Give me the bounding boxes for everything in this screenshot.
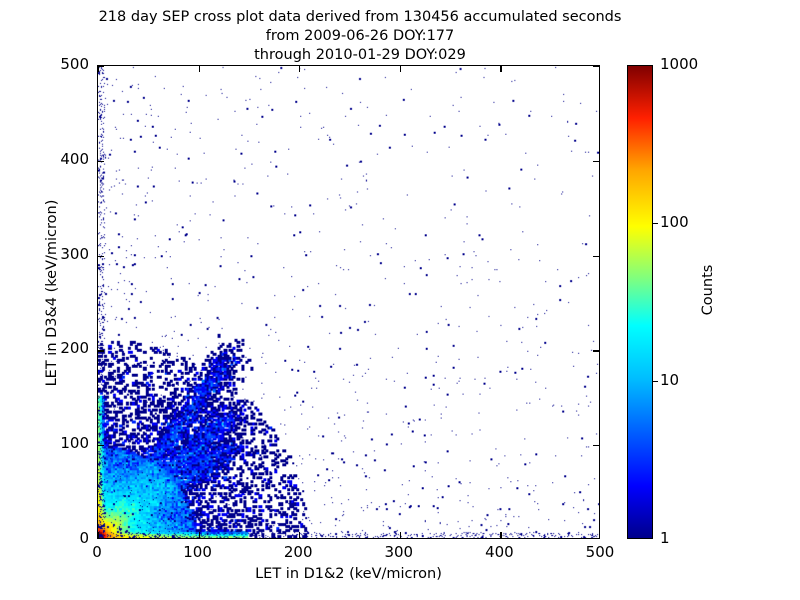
y-tick-300 — [98, 256, 104, 257]
y-tick-200 — [593, 350, 599, 351]
y-tick-200 — [98, 350, 104, 351]
x-tick-label-500: 500 — [560, 543, 640, 561]
y-tick-300 — [593, 256, 599, 257]
colorbar-label-1: 1 — [660, 529, 670, 547]
y-tick-label-0: 0 — [33, 529, 89, 547]
x-tick-200 — [299, 532, 300, 538]
chart-title-line-2: from 2009-06-26 DOY:177 — [0, 27, 720, 46]
x-tick-300 — [400, 66, 401, 72]
y-tick-100 — [593, 445, 599, 446]
x-tick-300 — [400, 532, 401, 538]
y-tick-label-500: 500 — [33, 55, 89, 73]
x-tick-label-200: 200 — [258, 543, 338, 561]
x-axis-label: LET in D1&2 (keV/micron) — [97, 566, 600, 582]
colorbar-tick-10 — [653, 381, 658, 382]
y-tick-label-400: 400 — [33, 150, 89, 168]
chart-title-line-1: 218 day SEP cross plot data derived from… — [0, 8, 720, 27]
x-tick-label-400: 400 — [459, 543, 539, 561]
colorbar — [627, 65, 653, 539]
chart-title: 218 day SEP cross plot data derived from… — [0, 8, 720, 65]
scatter-data-layer — [98, 66, 599, 538]
colorbar-title: Counts — [700, 185, 716, 395]
x-tick-100 — [199, 66, 200, 72]
y-tick-label-300: 300 — [33, 245, 89, 263]
x-tick-400 — [500, 532, 501, 538]
colorbar-tick-100 — [653, 223, 658, 224]
chart-title-line-3: through 2010-01-29 DOY:029 — [0, 46, 720, 65]
y-tick-label-200: 200 — [33, 339, 89, 357]
x-tick-0 — [98, 532, 99, 538]
x-tick-100 — [199, 532, 200, 538]
x-tick-label-100: 100 — [158, 543, 238, 561]
x-tick-label-300: 300 — [359, 543, 439, 561]
y-axis-label: LET in D3&4 (keV/micron) — [44, 73, 60, 513]
colorbar-label-1000: 1000 — [660, 55, 698, 73]
colorbar-label-10: 10 — [660, 371, 679, 389]
y-tick-label-100: 100 — [33, 434, 89, 452]
y-tick-100 — [98, 445, 104, 446]
y-tick-500 — [593, 66, 599, 67]
x-tick-400 — [500, 66, 501, 72]
x-tick-200 — [299, 66, 300, 72]
y-tick-400 — [98, 161, 104, 162]
colorbar-gradient — [627, 65, 653, 539]
y-tick-400 — [593, 161, 599, 162]
scatter-plot-area — [97, 65, 600, 539]
y-tick-500 — [98, 66, 104, 67]
colorbar-label-100: 100 — [660, 213, 689, 231]
